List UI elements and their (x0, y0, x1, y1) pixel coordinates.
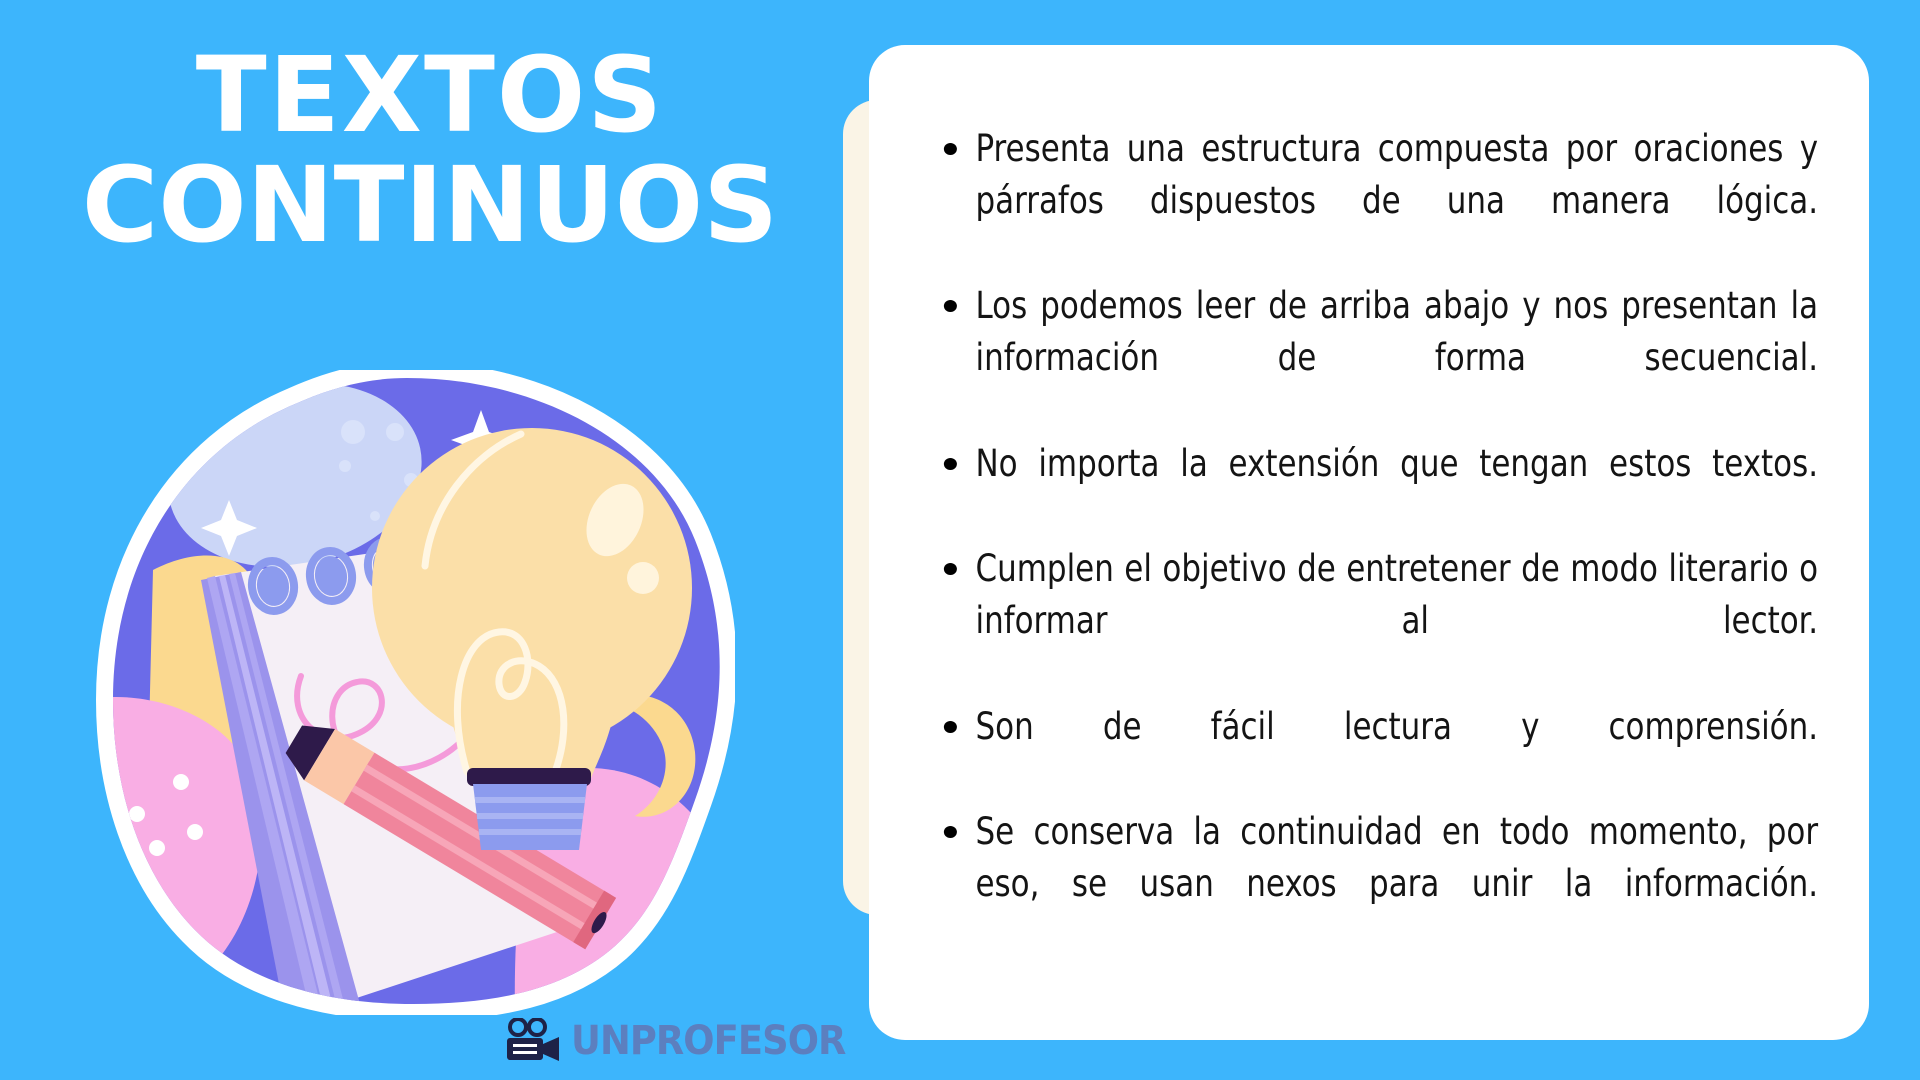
pink-blob-dot (129, 806, 145, 822)
list-item: Los podemos leer de arriba abajo y nos p… (929, 280, 1818, 435)
list-item-text: Los podemos leer de arriba abajo y nos p… (976, 284, 1819, 379)
bulb-highlight-small (627, 562, 659, 594)
bullet-list: Presenta una estructura compuesta por or… (929, 123, 1819, 964)
illustration-svg (95, 370, 735, 1015)
list-item-text: Presenta una estructura compuesta por or… (976, 127, 1819, 222)
page-title-line-2: CONTINUOS (0, 150, 860, 260)
brand-logo-text: UNPROFESOR (571, 1021, 845, 1061)
moon-dot (341, 420, 365, 444)
list-item-text: Se conserva la continuidad en todo momen… (976, 810, 1819, 905)
page-title-line-1: TEXTOS (0, 40, 860, 150)
pink-blob-dot (173, 774, 189, 790)
list-item: Presenta una estructura compuesta por or… (929, 123, 1818, 278)
pink-blob-dot (187, 824, 203, 840)
list-item-text: No importa la extensión que tengan estos… (976, 442, 1819, 485)
list-item: Cumplen el objetivo de entretener de mod… (929, 543, 1818, 698)
list-item: Son de fácil lectura y comprensión. (929, 701, 1818, 805)
page-title: TEXTOS CONTINUOS (0, 40, 860, 260)
brand-logo: UNPROFESOR (505, 1018, 869, 1064)
star-dot (339, 460, 351, 472)
content-card: Presenta una estructura compuesta por or… (869, 45, 1869, 1040)
notepad-pencil-lightbulb-illustration (95, 370, 735, 1015)
bulb-neck (447, 700, 617, 778)
pink-blob-dot (149, 840, 165, 856)
movie-camera-icon (505, 1018, 561, 1064)
left-column: TEXTOS CONTINUOS (0, 0, 860, 1080)
bulb-collar (467, 768, 591, 786)
star-dot (386, 423, 404, 441)
star-dot (370, 511, 380, 521)
list-item-text: Son de fácil lectura y comprensión. (976, 705, 1819, 748)
list-item: No importa la extensión que tengan estos… (929, 438, 1818, 542)
list-item-text: Cumplen el objetivo de entretener de mod… (976, 547, 1819, 642)
list-item: Se conserva la continuidad en todo momen… (929, 806, 1818, 961)
